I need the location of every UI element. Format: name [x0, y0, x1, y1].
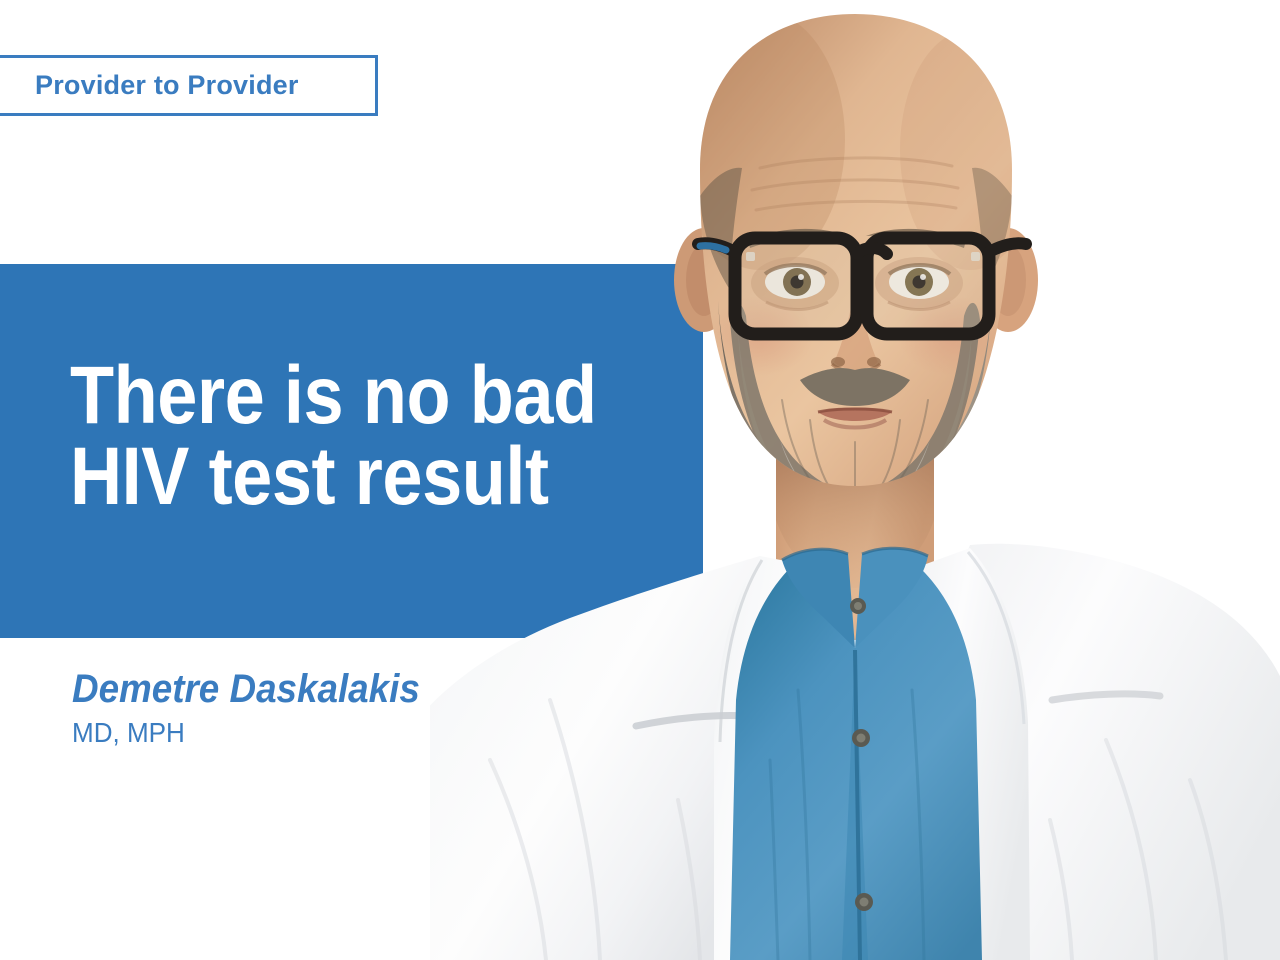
lab-coat-lapel-left: [714, 556, 842, 960]
glasses-temple-left: [698, 243, 735, 252]
series-badge-label: Provider to Provider: [0, 70, 299, 101]
stubble-left: [700, 168, 742, 290]
eyebrow-right: [866, 229, 966, 248]
lens-frame-right: [867, 238, 989, 334]
lab-coat-left-front: [730, 566, 854, 960]
speaker-block: Demetre Daskalakis MD, MPH: [72, 668, 450, 747]
dress-shirt: [730, 566, 982, 960]
mustache: [800, 368, 910, 406]
face-shape: [700, 14, 1012, 486]
lab-coat-folds: [490, 700, 1226, 960]
shirt-collar-left: [782, 549, 855, 648]
eye-right-white: [889, 265, 949, 299]
iris-right: [905, 268, 933, 296]
stubble-right: [972, 168, 1012, 290]
nose: [834, 290, 878, 370]
ear-right: [978, 228, 1038, 332]
beard-grey-lower: [780, 440, 930, 518]
forehead-lines: [752, 158, 958, 210]
eyebrow-left: [748, 229, 848, 248]
mouth: [818, 408, 892, 422]
lab-coat-lapel-left-edge: [720, 560, 762, 742]
glasses-temple-right: [989, 243, 1026, 252]
speaker-name: Demetre Daskalakis: [72, 668, 420, 710]
speaker-credentials: MD, MPH: [72, 718, 424, 747]
lab-coat-right: [930, 544, 1280, 960]
coat-pocket-right: [1052, 694, 1160, 700]
lab-coat-lapel-right-edge: [968, 552, 1024, 724]
glasses-bridge: [857, 248, 887, 254]
series-badge: Provider to Provider: [0, 55, 378, 116]
head-group: [674, 10, 1040, 528]
shirt-placket: [842, 648, 868, 960]
slide-canvas: Provider to Provider There is no bad HIV…: [0, 0, 1280, 960]
page-title: There is no bad HIV test result: [70, 355, 616, 517]
lab-coat-lapel-right: [904, 548, 1030, 960]
lens-frame-left: [735, 238, 857, 334]
shirt-creases: [770, 690, 924, 960]
eyeglasses: [698, 238, 1026, 334]
shirt-placket-seam: [855, 650, 860, 960]
glasses-temple-accent: [700, 246, 726, 250]
neck-shadow: [776, 400, 934, 588]
coat-pocket-left: [636, 715, 748, 726]
iris-left: [783, 268, 811, 296]
eye-left-white: [765, 265, 825, 299]
shirt-collar-right: [855, 548, 928, 648]
beard-outline: [718, 300, 992, 528]
page-title-line-2: HIV test result: [70, 436, 616, 517]
shirt-buttons: [850, 598, 873, 911]
neck-shape: [776, 400, 934, 640]
page-title-line-1: There is no bad: [70, 355, 616, 436]
